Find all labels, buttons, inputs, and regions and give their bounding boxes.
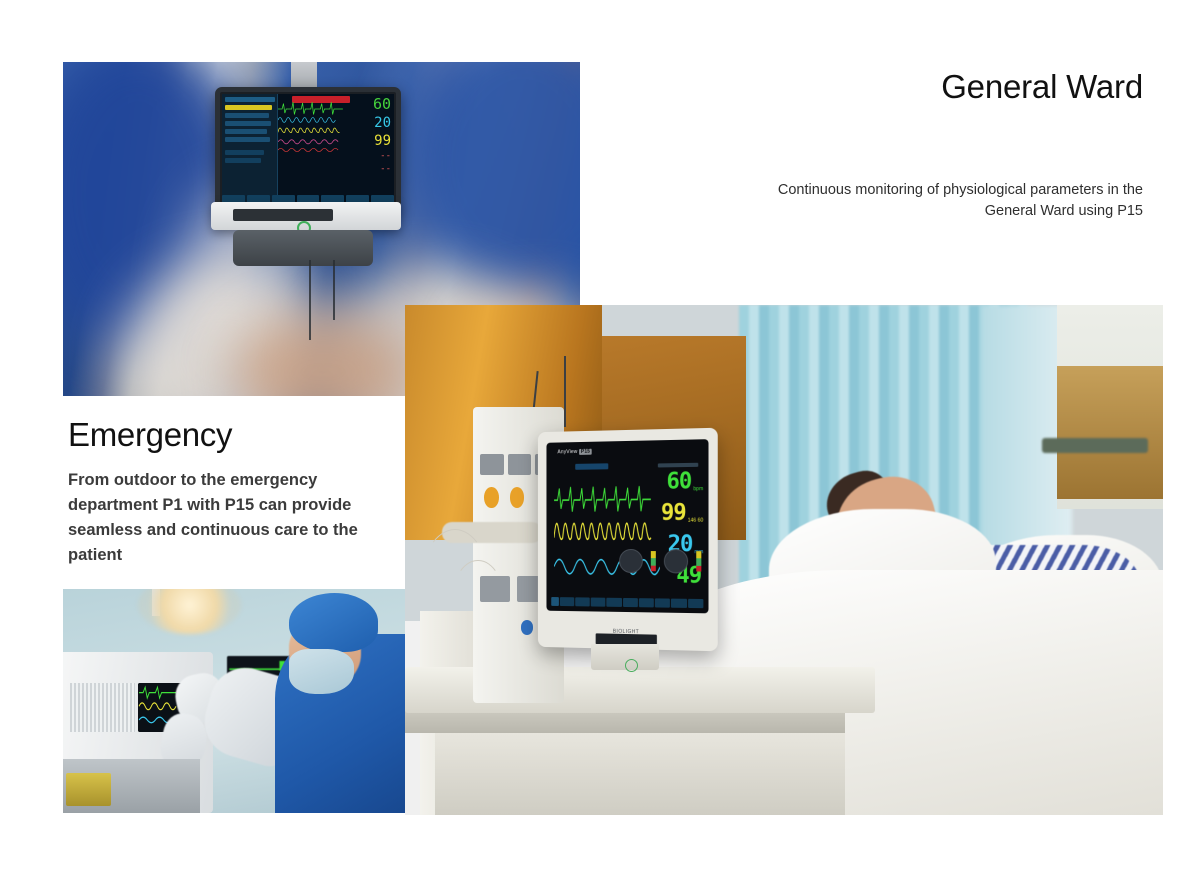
p15-level-bar [697,551,702,571]
p15-softkey-bar [552,597,704,608]
p15-softkey[interactable] [688,599,704,608]
antenna [564,356,566,427]
p15-level-bar [651,551,656,571]
cable [450,560,505,654]
icu-patient-monitor: 60 20 99 -- -- [215,87,401,212]
p15-gauges [620,544,702,579]
surgical-cap [289,593,378,651]
icu-vital-value: 99 [353,134,391,148]
p15-softkey[interactable] [623,598,638,607]
table-base [435,728,844,815]
p15-vital-row: 60 bpm [654,472,704,493]
rack-module [480,454,504,475]
control-knob [484,487,499,508]
machine-label [66,773,110,807]
icu-monitor-waveforms [278,94,353,205]
control-knob [510,487,525,508]
tray-keyboard [233,209,333,221]
photo-general-ward: AnyView P15 60 bpm [405,305,1163,815]
p15-softkey[interactable] [560,597,575,606]
p15-brand-label: AnyView P15 [558,448,593,455]
p15-brand-text: AnyView [558,449,578,455]
wood-panel-right [1057,366,1163,499]
surgical-mask [289,649,354,694]
p15-vital-spo2-unit: 146 60 [688,518,704,524]
monitor-tray [211,202,401,230]
p15-softkey[interactable] [607,598,622,607]
p15-vital-hr-unit: bpm [694,487,704,493]
icu-monitor-screen: 60 20 99 -- -- [222,94,394,205]
emergency-text-panel: Emergency From outdoor to the emergency … [63,406,405,589]
p15-patient-tag [576,463,609,470]
icu-vital-value: 60 [353,97,391,112]
p15-gauge-dial [620,549,643,573]
p15-softkey[interactable] [639,598,654,607]
emergency-body-text: From outdoor to the emergency department… [68,468,388,568]
photo-operating-room [63,589,405,813]
icu-vital-value: 20 [353,116,391,130]
general-ward-title: General Ward [941,68,1143,106]
p15-gauge-dial [665,549,689,573]
p15-softkey[interactable] [591,597,606,606]
slide-canvas: 60 20 99 -- -- [0,0,1200,873]
machine-vent-grill [70,683,135,732]
bed-rail [1042,438,1148,453]
icu-monitor-menu-panel [222,94,278,205]
p15-softkey[interactable] [552,597,559,606]
p15-vital-hr-value: 60 [667,472,692,493]
p15-softkey[interactable] [672,598,687,607]
p15-vital-row: 99 146 60 [654,504,704,525]
p15-status-chip [658,463,698,468]
p15-screen: AnyView P15 60 bpm [547,439,709,613]
cable [333,260,361,320]
p15-softkey[interactable] [575,597,590,606]
p15-softkey[interactable] [655,598,670,607]
general-ward-body-text: Continuous monitoring of physiological p… [773,180,1143,222]
emergency-title: Emergency [68,416,232,454]
p15-patient-monitor: AnyView P15 60 bpm [538,428,718,652]
control-knob [521,620,534,635]
p15-model-badge: P15 [579,448,592,454]
rack-module [508,454,532,475]
icu-monitor-vitals: 60 20 99 -- -- [353,94,394,205]
p15-vital-spo2-value: 99 [661,504,686,525]
